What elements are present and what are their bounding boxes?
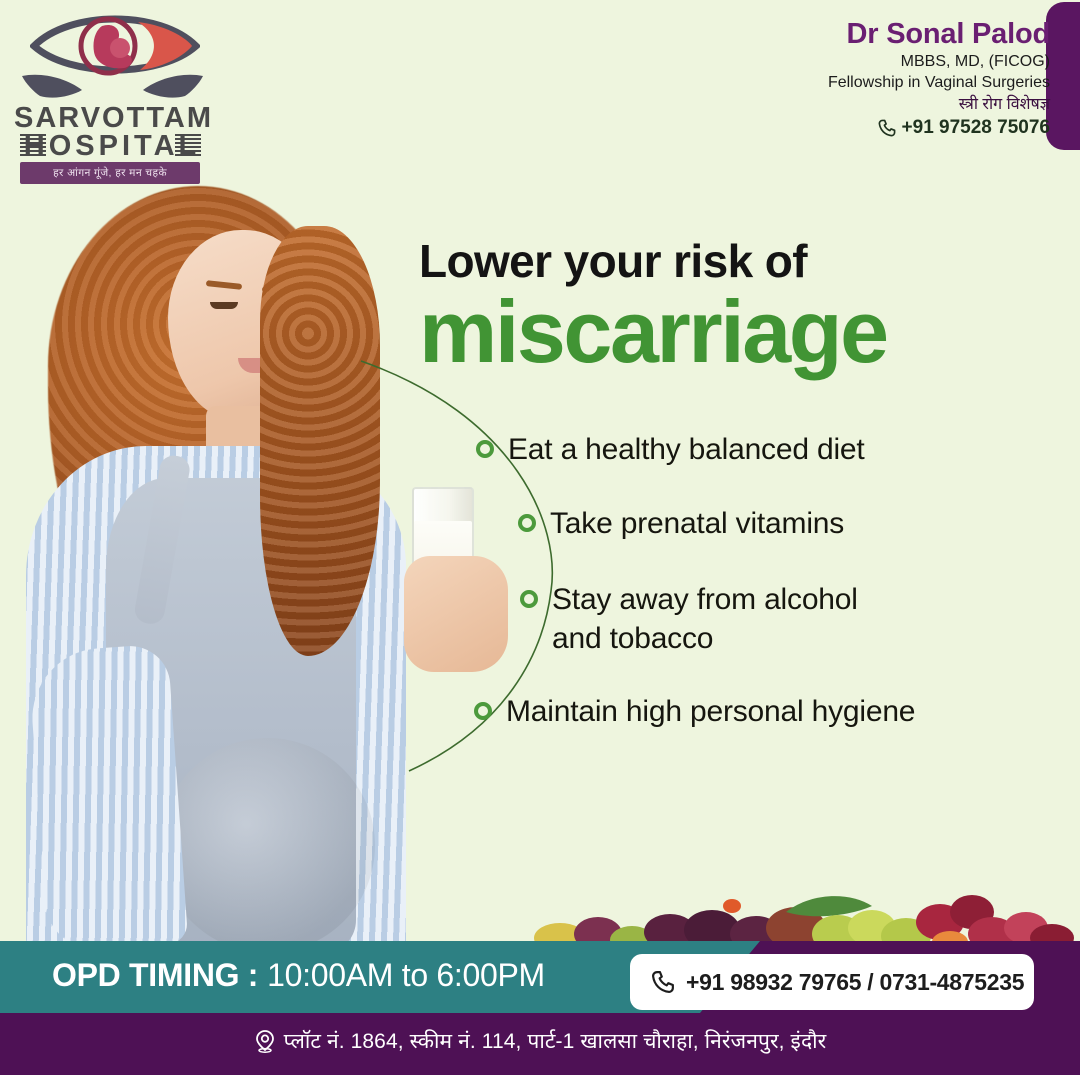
edge-accent-bar [1046, 2, 1080, 150]
poster-canvas: SARVOTTAM HOSPITAL हर आंगन गूंजे, हर मन … [0, 0, 1080, 1075]
tip-text: Stay away from alcohol and tobacco [552, 580, 858, 658]
doctor-name: Dr Sonal Palod [630, 18, 1050, 51]
bullet-marker-icon [474, 702, 492, 720]
headline-line-1: Lower your risk of [419, 238, 807, 284]
tip-text: Take prenatal vitamins [550, 504, 844, 543]
address-text: प्लॉट नं. 1864, स्कीम नं. 114, पार्ट-1 ख… [284, 1027, 827, 1055]
address-row: प्लॉट नं. 1864, स्कीम नं. 114, पार्ट-1 ख… [0, 1027, 1080, 1055]
location-pin-icon [254, 1029, 276, 1053]
phone-icon [877, 118, 897, 138]
fruits-band-image [520, 872, 1080, 950]
hand-holding-glass [404, 556, 508, 672]
logo-name-line1: SARVOTTAM [14, 104, 210, 133]
doctor-qualification: MBBS, MD, (FICOG) [630, 51, 1050, 72]
contact-phone-pill[interactable]: +91 98932 79765 / 0731-4875235 [630, 954, 1034, 1010]
list-item: Stay away from alcohol and tobacco [520, 580, 858, 658]
caring-hands-icon [20, 70, 205, 106]
tip-text: Maintain high personal hygiene [506, 692, 915, 731]
doctor-phone-row[interactable]: +91 97528 75076 [630, 117, 1050, 139]
bullet-marker-icon [520, 590, 538, 608]
hospital-logo[interactable]: SARVOTTAM HOSPITAL हर आंगन गूंजे, हर मन … [8, 8, 213, 183]
bullet-marker-icon [476, 440, 494, 458]
doctor-credentials: Dr Sonal Palod MBBS, MD, (FICOG) Fellows… [630, 18, 1050, 139]
opd-timing-text: OPD TIMING : 10:00AM to 6:00PM [52, 957, 545, 994]
opd-label: OPD TIMING : [52, 957, 258, 994]
contact-numbers: +91 98932 79765 / 0731-4875235 [686, 969, 1024, 996]
doctor-specialty-hindi: स्त्री रोग विशेषज्ञ [630, 94, 1050, 116]
bullet-marker-icon [518, 514, 536, 532]
doctor-phone-number: +91 97528 75076 [902, 117, 1050, 139]
list-item: Maintain high personal hygiene [474, 692, 915, 731]
list-item: Eat a healthy balanced diet [476, 430, 865, 469]
doctor-fellowship: Fellowship in Vaginal Surgeries [630, 72, 1050, 93]
tip-text: Eat a healthy balanced diet [508, 430, 865, 469]
list-item: Take prenatal vitamins [518, 504, 844, 543]
opd-value: 10:00AM to 6:00PM [267, 957, 545, 994]
logo-hatch-right [175, 134, 201, 158]
phone-icon [650, 969, 676, 995]
